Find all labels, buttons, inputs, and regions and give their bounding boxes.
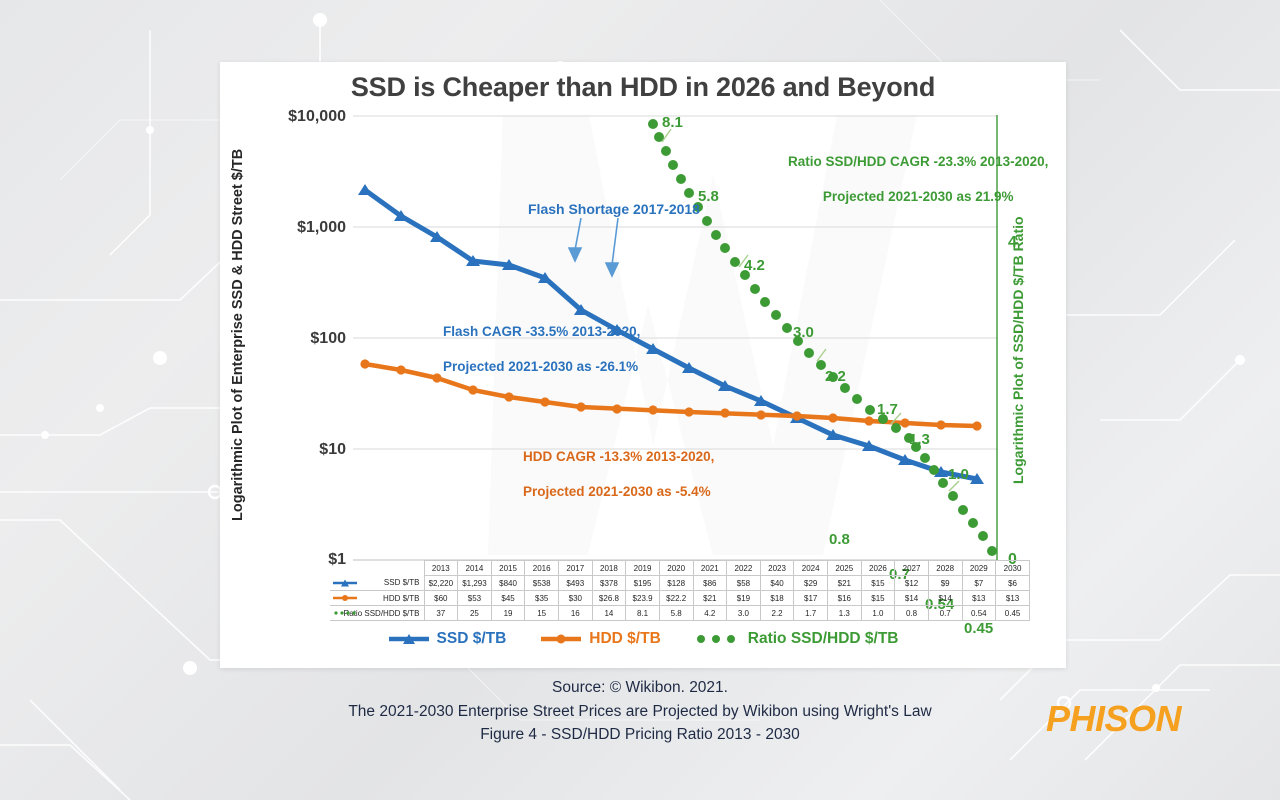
table-header-2026: 2026 [861, 561, 895, 576]
table-header-2023: 2023 [760, 561, 794, 576]
table-cell: $26.8 [592, 591, 626, 606]
table-header-2028: 2028 [928, 561, 962, 576]
table-cell: 37 [424, 606, 458, 621]
table-row-label-ssd: SSD $/TB [330, 576, 424, 591]
table-cell: $14 [928, 591, 962, 606]
table-cell: 0.54 [962, 606, 996, 621]
legend-item-ssd[interactable]: SSD $/TB [388, 630, 507, 648]
table-cell: $840 [491, 576, 525, 591]
slide-canvas: SSD is Cheaper than HDD in 2026 and Beyo… [0, 0, 1280, 800]
table-cell: 5.8 [659, 606, 693, 621]
caption-line-1: Source: © Wikibon. 2021. [0, 676, 1280, 700]
table-cell: $195 [626, 576, 660, 591]
y-axis-tick-1000: $1,000 [297, 219, 346, 237]
y-axis-tick-10000: $10,000 [288, 108, 346, 126]
legend-label-ratio: Ratio SSD/HDD $/TB [748, 630, 899, 648]
table-cell: $30 [559, 591, 593, 606]
annotation-ratio-cagr-line2: Projected 2021-2030 as 21.9% [823, 189, 1014, 204]
table-cell: 2.2 [760, 606, 794, 621]
table-cell: $22.2 [659, 591, 693, 606]
table-header-row: 2013 2014 2015 2016 2017 2018 2019 2020 … [330, 561, 1030, 576]
legend-item-ratio[interactable]: Ratio SSD/HDD $/TB [695, 630, 899, 648]
table-header-2025: 2025 [828, 561, 862, 576]
annotation-flash-cagr-line1: Flash CAGR -33.5% 2013-2020, [443, 324, 640, 339]
table-cell: $6 [996, 576, 1030, 591]
ratio-point-label-2024: 1.7 [877, 401, 898, 418]
annotation-flash-cagr-line2: Projected 2021-2030 as -26.1% [443, 359, 638, 374]
y2-axis-tick-4: 4 [1008, 234, 1017, 252]
table-header-2030: 2030 [996, 561, 1030, 576]
ratio-point-label-2023: 2.2 [825, 368, 846, 385]
table-cell: $17 [794, 591, 828, 606]
table-cell: $15 [861, 576, 895, 591]
legend-marker-ssd-table [332, 578, 358, 587]
legend-marker-ssd [388, 632, 430, 646]
table-cell: 1.3 [828, 606, 862, 621]
table-cell: $1,293 [458, 576, 492, 591]
table-header-2014: 2014 [458, 561, 492, 576]
phison-logo: PHISON [1046, 698, 1181, 740]
table-corner-cell [330, 561, 424, 576]
table-cell: 0.45 [996, 606, 1030, 621]
table-header-2024: 2024 [794, 561, 828, 576]
right-axis-title: Logarithmic Plot of SSD/HDD $/TB Ratio [1010, 170, 1026, 530]
table-header-2013: 2013 [424, 561, 458, 576]
chart-card: SSD is Cheaper than HDD in 2026 and Beyo… [220, 62, 1066, 668]
table-cell: $86 [693, 576, 727, 591]
table-header-2018: 2018 [592, 561, 626, 576]
table-cell: $14 [895, 591, 929, 606]
table-cell: $45 [491, 591, 525, 606]
table-cell: $19 [727, 591, 761, 606]
table-cell: $16 [828, 591, 862, 606]
table-cell: 14 [592, 606, 626, 621]
table-header-2022: 2022 [727, 561, 761, 576]
legend-label-ssd: SSD $/TB [437, 630, 507, 648]
table-cell: $29 [794, 576, 828, 591]
table-cell: $128 [659, 576, 693, 591]
annotation-ratio-cagr: Ratio SSD/HDD CAGR -23.3% 2013-2020, Pro… [758, 135, 1048, 223]
ratio-point-label-2022: 3.0 [793, 324, 814, 341]
table-cell: 3.0 [727, 606, 761, 621]
table-cell: 4.2 [693, 606, 727, 621]
table-cell: 0.7 [928, 606, 962, 621]
plot-area: $10,000 $1,000 $100 $10 $1 4 0 [353, 115, 998, 560]
table-row-label-ssd-text: SSD $/TB [384, 578, 420, 587]
legend-marker-hdd [540, 632, 582, 646]
table-cell: 0.8 [895, 606, 929, 621]
table-cell: $60 [424, 591, 458, 606]
legend-item-hdd[interactable]: HDD $/TB [540, 630, 660, 648]
table-cell: $40 [760, 576, 794, 591]
table-cell: 15 [525, 606, 559, 621]
table-row-label-hdd-text: HDD $/TB [383, 594, 419, 603]
table-cell: $13 [996, 591, 1030, 606]
legend-label-hdd: HDD $/TB [589, 630, 660, 648]
annotation-hdd-cagr-line2: Projected 2021-2030 as -5.4% [523, 484, 711, 499]
table-cell: $13 [962, 591, 996, 606]
ratio-point-label-2019: 8.1 [662, 114, 683, 131]
chart-legend: SSD $/TB HDD $/TB Ratio SSD/HDD $/TB [220, 630, 1066, 648]
table-header-2016: 2016 [525, 561, 559, 576]
table-cell: 19 [491, 606, 525, 621]
data-table-wrapper: 2013 2014 2015 2016 2017 2018 2019 2020 … [330, 560, 1030, 621]
table-cell: $21 [828, 576, 862, 591]
legend-marker-ratio-table [332, 609, 358, 618]
table-row-label-hdd: HDD $/TB [330, 591, 424, 606]
y-axis-tick-10: $10 [319, 441, 346, 459]
table-header-2020: 2020 [659, 561, 693, 576]
table-header-2027: 2027 [895, 561, 929, 576]
table-cell: $21 [693, 591, 727, 606]
table-row: HDD $/TB $60 $53 $45 $35 $30 $26.8 $23.9… [330, 591, 1030, 606]
table-cell: $53 [458, 591, 492, 606]
table-header-2019: 2019 [626, 561, 660, 576]
table-cell: 8.1 [626, 606, 660, 621]
table-header-2029: 2029 [962, 561, 996, 576]
table-cell: $493 [559, 576, 593, 591]
ratio-point-label-2025: 1.3 [909, 431, 930, 448]
table-cell: 1.0 [861, 606, 895, 621]
chart-title: SSD is Cheaper than HDD in 2026 and Beyo… [220, 72, 1066, 103]
annotation-flash-shortage: Flash Shortage 2017-2018 [528, 200, 700, 218]
table-cell: $23.9 [626, 591, 660, 606]
ratio-point-label-2027: 0.8 [829, 531, 850, 548]
table-cell: $2,220 [424, 576, 458, 591]
table-row: SSD $/TB $2,220 $1,293 $840 $538 $493 $3… [330, 576, 1030, 591]
ratio-point-label-2021: 4.2 [744, 257, 765, 274]
y-axis-tick-100: $100 [310, 330, 346, 348]
annotation-flash-cagr: Flash CAGR -33.5% 2013-2020, Projected 2… [413, 305, 640, 393]
annotation-ratio-cagr-line1: Ratio SSD/HDD CAGR -23.3% 2013-2020, [788, 154, 1048, 169]
table-cell: $7 [962, 576, 996, 591]
table-cell: $35 [525, 591, 559, 606]
legend-marker-ratio [695, 632, 741, 646]
table-cell: $12 [895, 576, 929, 591]
table-cell: $538 [525, 576, 559, 591]
ratio-point-label-2020: 5.8 [698, 188, 719, 205]
table-cell: $9 [928, 576, 962, 591]
table-cell: $15 [861, 591, 895, 606]
ratio-point-label-2026: 1.0 [948, 466, 969, 483]
data-table: 2013 2014 2015 2016 2017 2018 2019 2020 … [330, 560, 1030, 621]
table-cell: $378 [592, 576, 626, 591]
table-cell: $58 [727, 576, 761, 591]
annotation-hdd-cagr-line1: HDD CAGR -13.3% 2013-2020, [523, 449, 714, 464]
table-row: Ratio SSD/HDD $/TB 37 25 19 15 16 14 8.1… [330, 606, 1030, 621]
table-cell: 16 [559, 606, 593, 621]
table-header-2015: 2015 [491, 561, 525, 576]
table-cell: $18 [760, 591, 794, 606]
left-axis-title: Logarithmic Plot of Enterprise SSD & HDD… [230, 100, 246, 570]
table-header-2017: 2017 [559, 561, 593, 576]
legend-marker-hdd-table [332, 594, 358, 603]
table-header-2021: 2021 [693, 561, 727, 576]
table-row-label-ratio: Ratio SSD/HDD $/TB [330, 606, 424, 621]
table-cell: 1.7 [794, 606, 828, 621]
table-cell: 25 [458, 606, 492, 621]
annotation-hdd-cagr: HDD CAGR -13.3% 2013-2020, Projected 202… [493, 430, 714, 518]
